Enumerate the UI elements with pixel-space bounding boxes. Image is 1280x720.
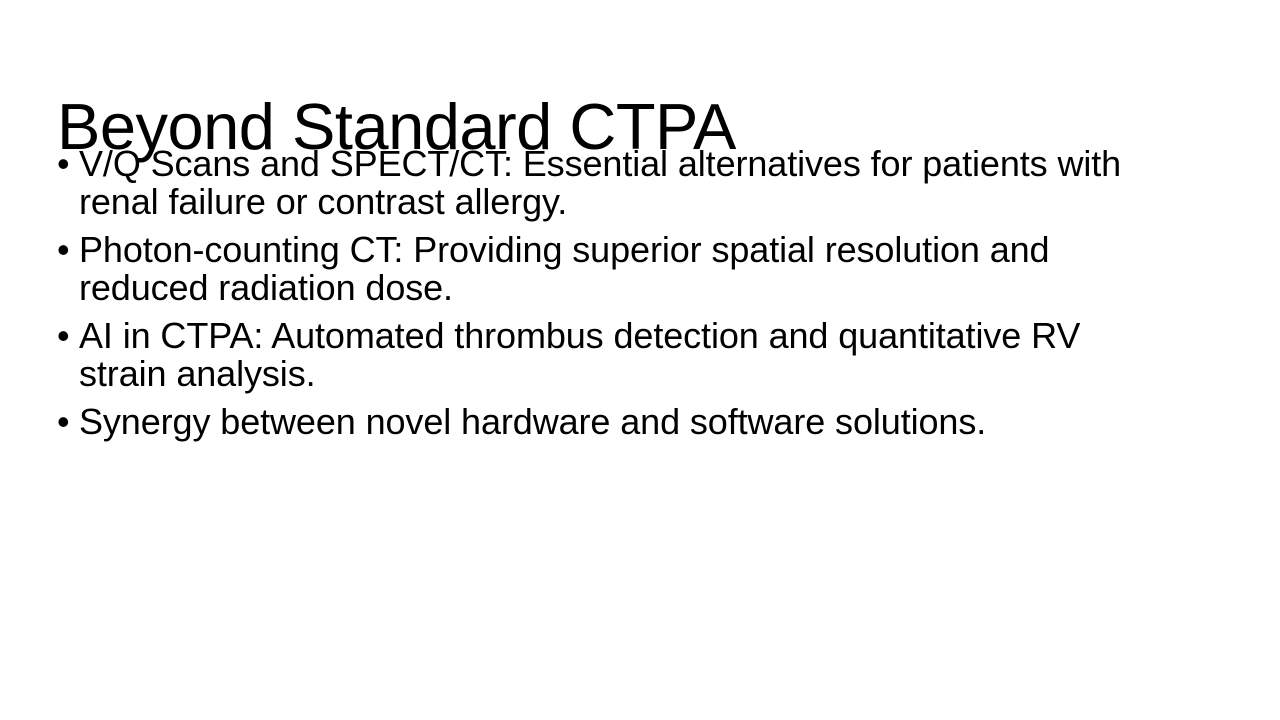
bullet-point-icon: • bbox=[57, 145, 79, 183]
bullet-point-icon: • bbox=[57, 317, 79, 355]
bullet-point-icon: • bbox=[57, 231, 79, 269]
list-item-text: Synergy between novel hardware and softw… bbox=[79, 401, 986, 442]
bullet-point-icon: • bbox=[57, 403, 79, 441]
list-item: • Synergy between novel hardware and sof… bbox=[57, 403, 1150, 441]
presentation-slide: Beyond Standard CTPA • V/Q Scans and SPE… bbox=[0, 0, 1280, 720]
list-item-text: AI in CTPA: Automated thrombus detection… bbox=[79, 315, 1080, 394]
list-item: • Photon-counting CT: Providing superior… bbox=[57, 231, 1150, 307]
bullet-list: • V/Q Scans and SPECT/CT: Essential alte… bbox=[57, 145, 1150, 441]
list-item: • AI in CTPA: Automated thrombus detecti… bbox=[57, 317, 1150, 393]
list-item-text: V/Q Scans and SPECT/CT: Essential altern… bbox=[79, 143, 1121, 222]
list-item-text: Photon-counting CT: Providing superior s… bbox=[79, 229, 1049, 308]
list-item: • V/Q Scans and SPECT/CT: Essential alte… bbox=[57, 145, 1150, 221]
